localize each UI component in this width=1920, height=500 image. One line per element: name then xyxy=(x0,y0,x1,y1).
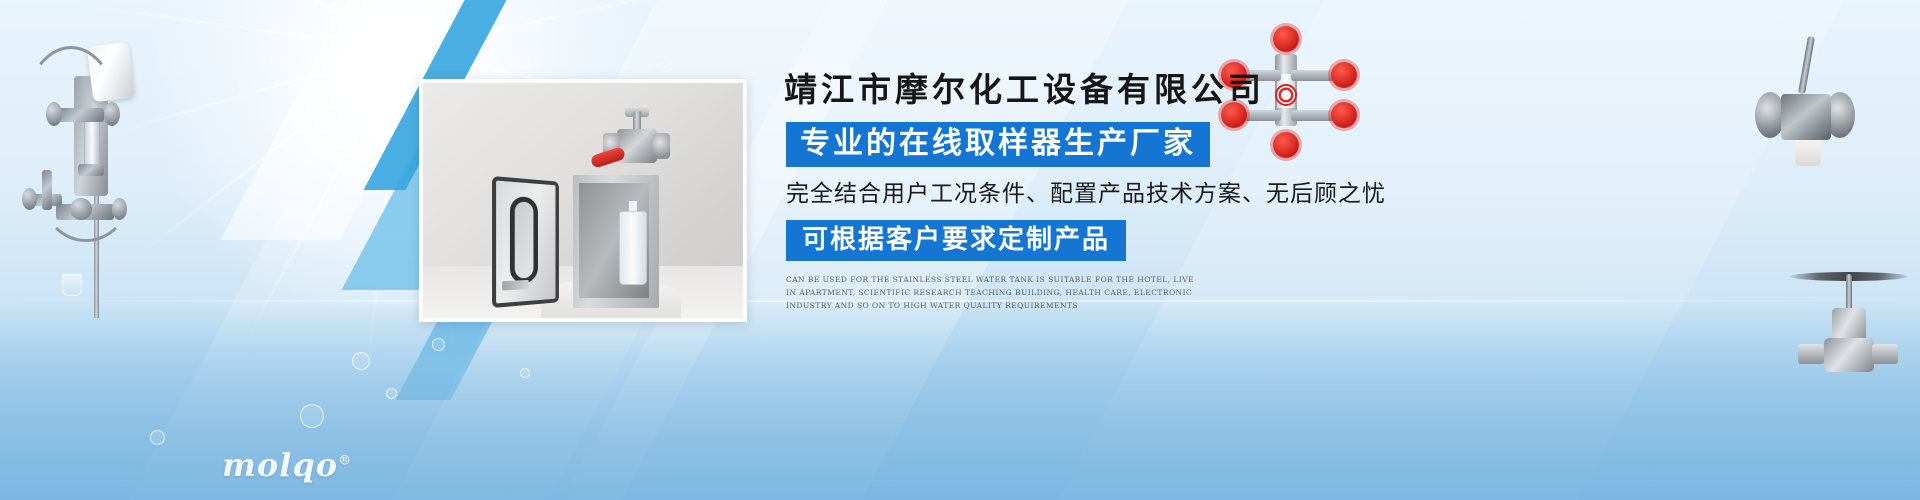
bubble-decor xyxy=(300,404,324,428)
bubble-decor xyxy=(432,338,445,351)
english-description: CAN BE USED FOR THE STAINLESS STEEL WATE… xyxy=(786,273,1206,312)
watermark-logo: molqo® xyxy=(222,446,352,484)
headline-row: 专业的在线取样器生产厂家 xyxy=(786,122,1420,168)
headline-badge: 专业的在线取样器生产厂家 xyxy=(786,122,1210,168)
bubble-decor xyxy=(520,368,530,378)
bubble-decor xyxy=(150,430,165,445)
promo-banner: 靖江市摩尔化工设备有限公司 专业的在线取样器生产厂家 完全结合用户工况条件、配置… xyxy=(0,0,1920,500)
lever-handle-valve xyxy=(1745,36,1875,186)
tagline-badge: 可根据客户要求定制产品 xyxy=(786,220,1126,261)
sampling-valve-in-photo xyxy=(599,111,673,183)
bubble-decor xyxy=(386,388,397,399)
registered-mark-icon: ® xyxy=(338,453,352,468)
handwheel-gate-valve xyxy=(1790,250,1910,390)
subline-text: 完全结合用户工况条件、配置产品技术方案、无后顾之忧 xyxy=(786,180,1420,208)
bubble-decor xyxy=(352,352,370,370)
watermark-text: molqo xyxy=(222,446,338,484)
product-photo[interactable] xyxy=(419,79,747,322)
bubble-decor xyxy=(660,60,672,72)
headline-text-block: 靖江市摩尔化工设备有限公司 专业的在线取样器生产厂家 完全结合用户工况条件、配置… xyxy=(780,70,1420,312)
left-sampler-device-illustration xyxy=(8,28,178,318)
company-name: 靖江市摩尔化工设备有限公司 xyxy=(784,70,1420,110)
tagline-row: 可根据客户要求定制产品 xyxy=(786,220,1420,261)
